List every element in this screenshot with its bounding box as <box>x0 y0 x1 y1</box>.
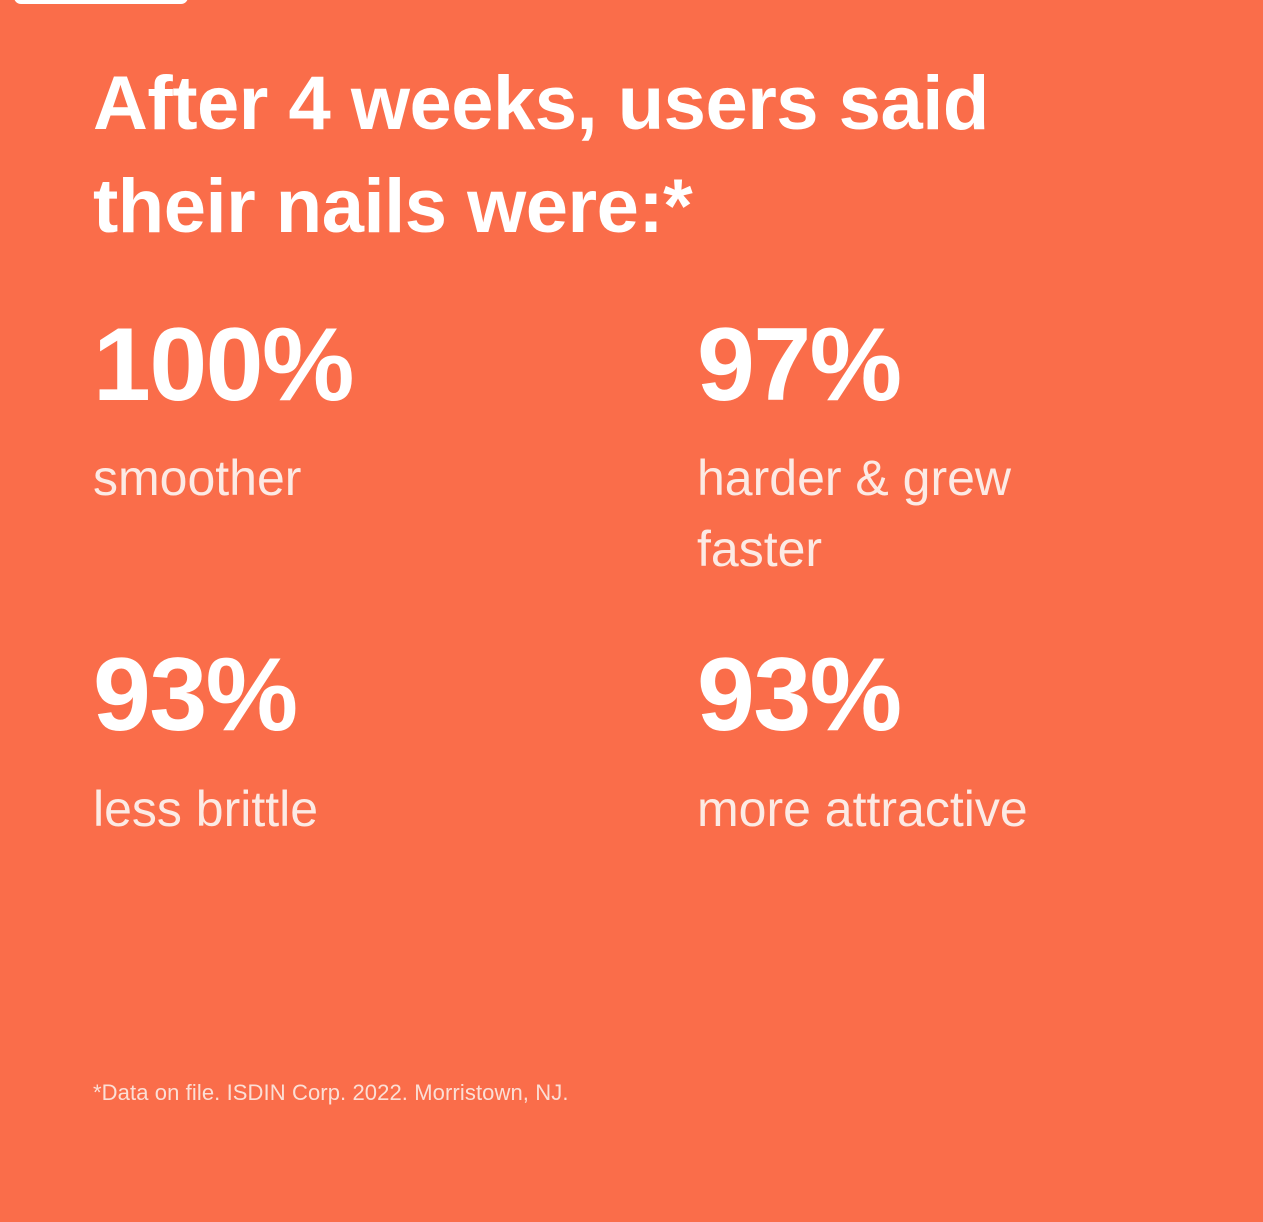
stat-callout-card: After 4 weeks, users said their nails we… <box>0 0 1263 1222</box>
stat-block-less-brittle: 93% less brittle <box>93 637 697 844</box>
top-pill-decoration <box>14 0 188 4</box>
stat-value: 93% <box>697 637 1223 753</box>
footnote-source: *Data on file. ISDIN Corp. 2022. Morrist… <box>93 1080 569 1106</box>
stat-label: more attractive <box>697 774 1117 845</box>
stats-grid: 100% smoother 97% harder & grew faster 9… <box>93 307 1223 845</box>
card-content: After 4 weeks, users said their nails we… <box>93 52 1223 845</box>
stat-value: 100% <box>93 307 697 423</box>
page-title: After 4 weeks, users said their nails we… <box>93 52 1153 259</box>
stat-label: less brittle <box>93 774 513 845</box>
stat-value: 93% <box>93 637 697 753</box>
stat-label: smoother <box>93 443 513 514</box>
stat-block-harder-grew-faster: 97% harder & grew faster <box>697 307 1223 585</box>
stat-label: harder & grew faster <box>697 443 1117 585</box>
stat-value: 97% <box>697 307 1223 423</box>
stat-block-smoother: 100% smoother <box>93 307 697 585</box>
stat-block-more-attractive: 93% more attractive <box>697 637 1223 844</box>
